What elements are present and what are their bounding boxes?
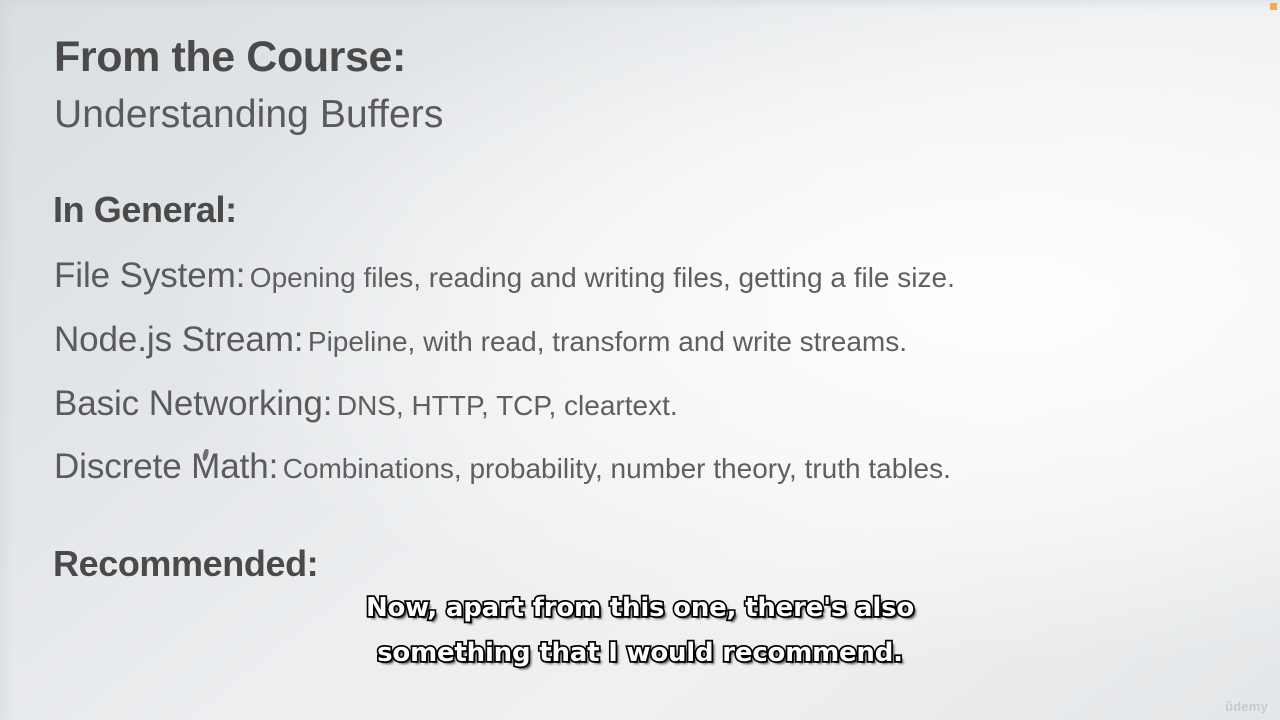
topic-row: Discrete Math: Combinations, probability… — [54, 449, 1240, 486]
topic-label: Node.js Stream: — [54, 320, 303, 359]
topic-description: Combinations, probability, number theory… — [283, 453, 951, 484]
topic-list: File System: Opening files, reading and … — [54, 258, 1240, 486]
course-heading: From the Course: — [54, 36, 1240, 79]
udemy-watermark: ûdemy — [1225, 699, 1268, 714]
presentation-slide: From the Course: Understanding Buffers I… — [0, 0, 1280, 720]
caption-line-2: something that I would recommend. — [0, 631, 1280, 676]
topic-row: Basic Networking: DNS, HTTP, TCP, cleart… — [54, 386, 1240, 423]
recommended-heading: Recommended: — [53, 546, 1240, 582]
corner-marker-icon — [1270, 3, 1277, 10]
caption-line-1: Now, apart from this one, there's also — [0, 586, 1280, 631]
topic-row: File System: Opening files, reading and … — [54, 258, 1240, 295]
topic-description: Pipeline, with read, transform and write… — [308, 326, 907, 357]
topic-description: DNS, HTTP, TCP, cleartext. — [337, 390, 678, 421]
slide-text-block: From the Course: Understanding Buffers I… — [54, 36, 1240, 582]
topic-description: Opening files, reading and writing files… — [250, 262, 955, 293]
topic-label: Discrete Math: — [54, 447, 278, 486]
topic-row: Node.js Stream: Pipeline, with read, tra… — [54, 322, 1240, 359]
course-subtitle: Understanding Buffers — [54, 95, 1240, 134]
topic-label: File System: — [54, 256, 245, 295]
topic-label: Basic Networking: — [54, 384, 332, 423]
in-general-heading: In General: — [53, 192, 1240, 228]
caption-overlay: Now, apart from this one, there's also s… — [0, 586, 1280, 676]
